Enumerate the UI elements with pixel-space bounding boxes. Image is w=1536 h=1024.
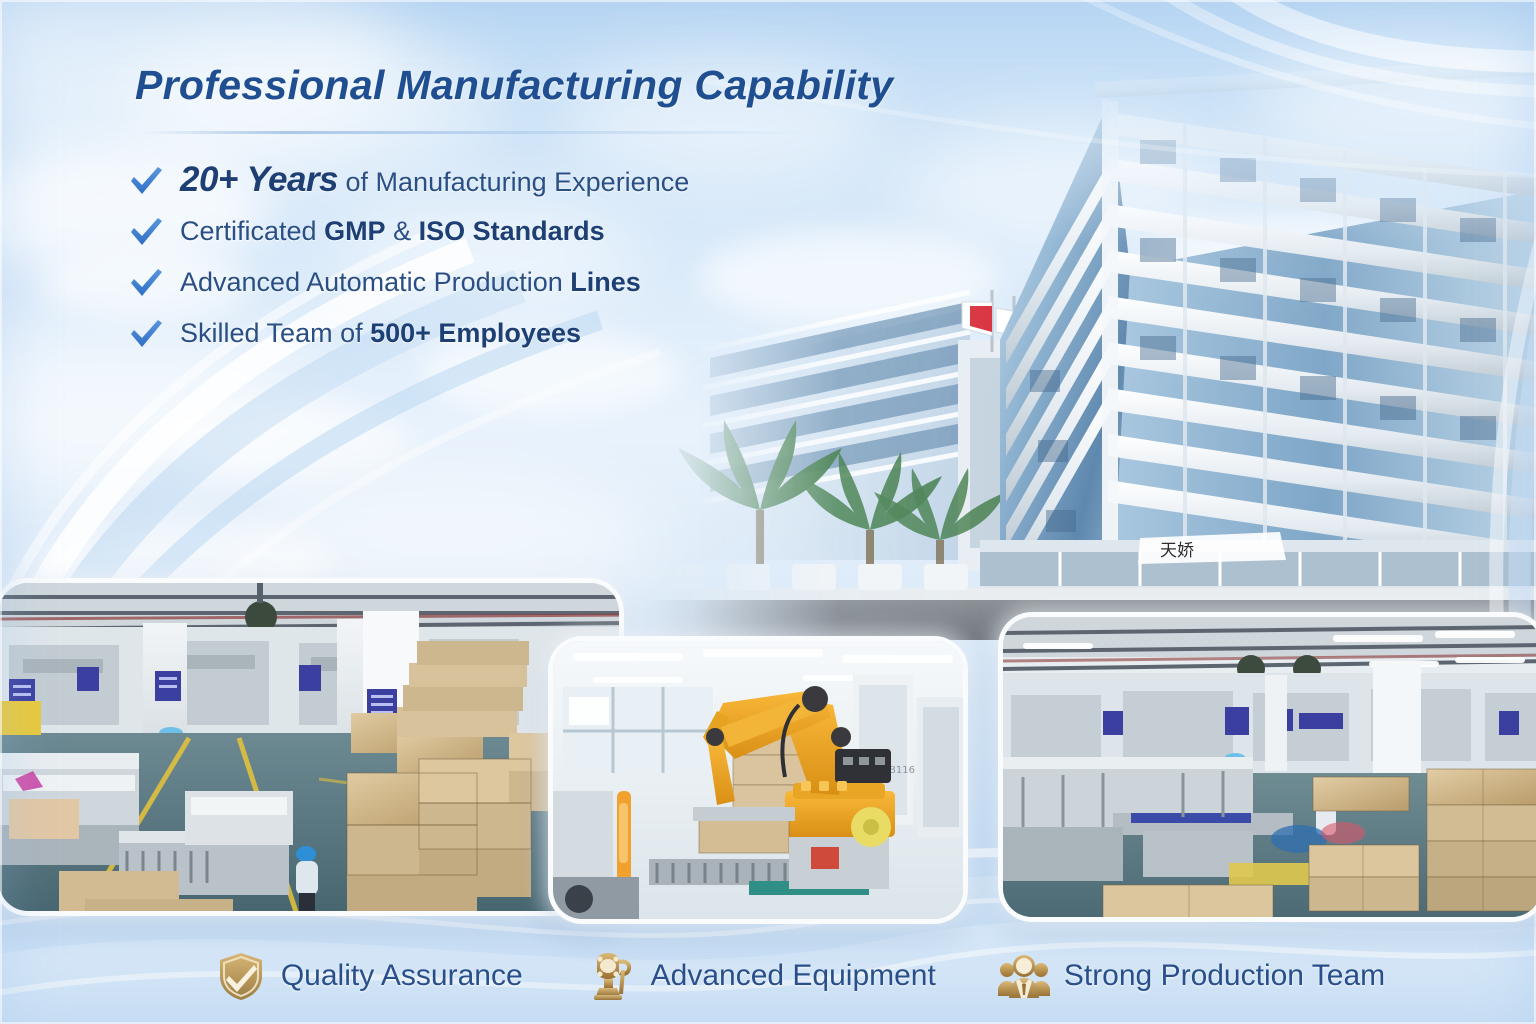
photo-card-packaging-hall[interactable]: [998, 612, 1536, 922]
factory-worker: [296, 846, 318, 911]
feature-item-production-lines: Advanced Automatic Production Lines: [128, 257, 928, 308]
footer-item-advanced-equipment[interactable]: Advanced Equipment: [585, 950, 936, 1002]
feature-pre: Advanced Automatic Production: [180, 267, 570, 297]
title-divider: [135, 131, 820, 134]
feature-item-standards: Certificated GMP & ISO Standards: [128, 206, 928, 257]
feature-list: 20+ Years of Manufacturing Experience Ce…: [128, 155, 928, 359]
photo-card-robotic-arm[interactable]: B116: [548, 636, 968, 924]
people-group-icon: [998, 950, 1050, 1002]
footer-items: Quality Assurance: [0, 950, 1536, 1002]
photo-card-production-floor[interactable]: [0, 578, 624, 916]
heading-block: Professional Manufacturing Capability: [135, 62, 895, 134]
page-title: Professional Manufacturing Capability: [135, 62, 895, 109]
feature-strong-employees: 500+ Employees: [370, 318, 581, 348]
feature-strong-gmp: GMP: [324, 216, 386, 246]
footer-item-quality-assurance[interactable]: Quality Assurance: [215, 950, 523, 1002]
building-signage: 天娇: [1138, 532, 1286, 564]
feature-text: Advanced Automatic Production Lines: [180, 268, 641, 298]
shield-check-icon: [215, 950, 267, 1002]
feature-item-employees: Skilled Team of 500+ Employees: [128, 308, 928, 359]
machine-icon: [585, 950, 637, 1002]
feature-mid: &: [386, 216, 419, 246]
feature-pre: Skilled Team of: [180, 318, 370, 348]
feature-strong-iso: ISO Standards: [419, 216, 605, 246]
feature-rest: of Manufacturing Experience: [338, 167, 689, 197]
feature-item-experience: 20+ Years of Manufacturing Experience: [128, 155, 928, 206]
feature-pre: Certificated: [180, 216, 324, 246]
feature-text: Certificated GMP & ISO Standards: [180, 217, 605, 247]
check-icon: [128, 215, 164, 249]
footer-label: Quality Assurance: [281, 959, 523, 993]
footer-label: Advanced Equipment: [651, 959, 936, 993]
feature-text: 20+ Years of Manufacturing Experience: [180, 161, 689, 200]
footer-label: Strong Production Team: [1064, 959, 1385, 993]
footer-item-production-team[interactable]: Strong Production Team: [998, 950, 1385, 1002]
svg-text:B116: B116: [889, 765, 915, 776]
feature-strong-lines: Lines: [570, 267, 641, 297]
check-icon: [128, 266, 164, 300]
feature-highlight: 20+ Years: [180, 160, 338, 199]
check-icon: [128, 164, 164, 198]
banner-canvas: 天娇: [0, 0, 1536, 1024]
check-icon: [128, 317, 164, 351]
svg-text:天娇: 天娇: [1160, 541, 1194, 561]
feature-text: Skilled Team of 500+ Employees: [180, 319, 581, 349]
